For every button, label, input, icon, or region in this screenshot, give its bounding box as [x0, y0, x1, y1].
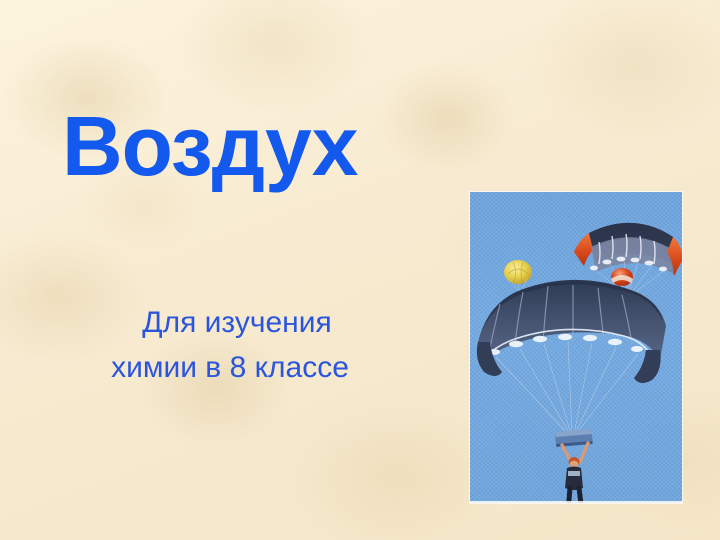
- subtitle-line-2: химии в 8 классе: [20, 345, 440, 390]
- lower-canopy-group: [477, 280, 666, 434]
- subtitle-line-1: Для изучения: [20, 300, 440, 345]
- photo-bottom-edge: [470, 501, 682, 503]
- skydiver-with-banner: [555, 429, 593, 503]
- page-title: Воздух: [62, 104, 482, 188]
- parachute-scene-illustration: [470, 192, 682, 503]
- yellow-round-canopy: [504, 260, 532, 292]
- parachutists-photo: [470, 192, 682, 503]
- slide-canvas: Воздух Для изучения химии в 8 классе: [0, 0, 720, 540]
- slide-subtitle: Для изучения химии в 8 классе: [20, 300, 440, 390]
